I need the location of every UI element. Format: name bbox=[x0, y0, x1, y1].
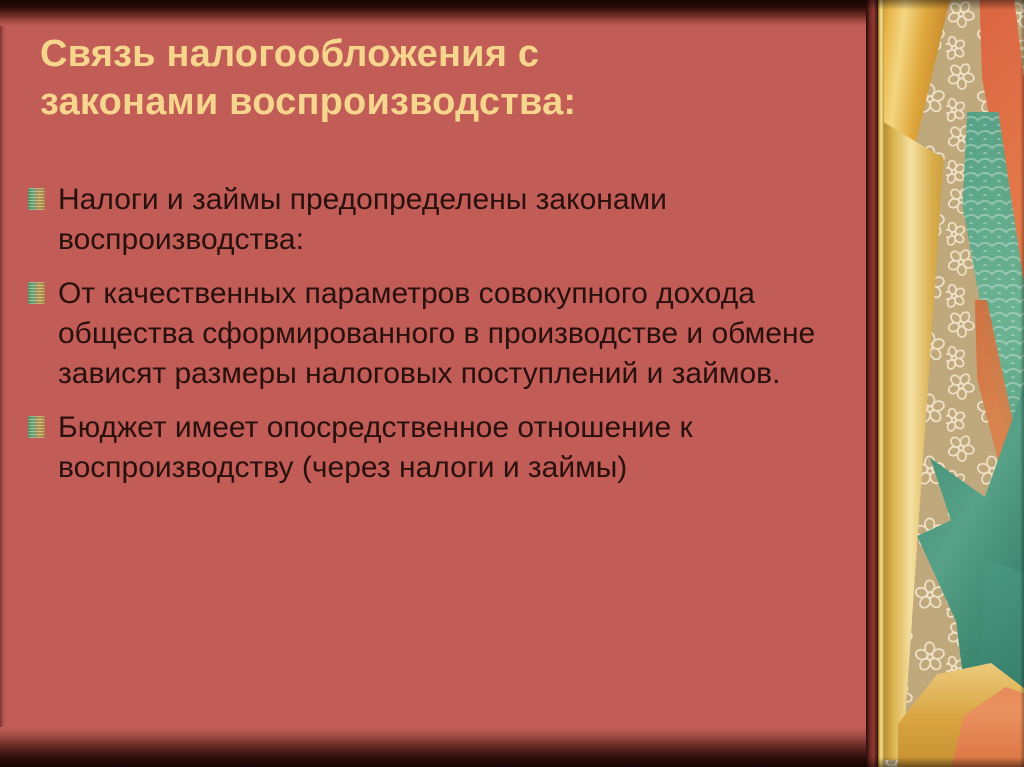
top-edge-shading bbox=[0, 0, 866, 26]
presentation-slide: Связь налогообложения с законами воспрои… bbox=[0, 0, 1024, 767]
ornament-bullet-icon bbox=[28, 416, 45, 438]
slide-content-area: Связь налогообложения с законами воспрои… bbox=[0, 0, 866, 767]
bullet-list: Налоги и займы предопределены законами в… bbox=[28, 180, 818, 502]
deco-gold-rule bbox=[878, 0, 884, 767]
ornament-bullet-icon bbox=[28, 282, 45, 304]
slide-title-line-2: законами воспроизводства: bbox=[40, 78, 840, 126]
slide-title: Связь налогообложения с законами воспрои… bbox=[40, 30, 840, 126]
slide-title-line-1: Связь налогообложения с bbox=[40, 30, 840, 78]
left-edge-shading bbox=[0, 0, 7, 767]
bullet-item-text: Налоги и займы предопределены законами в… bbox=[58, 180, 818, 260]
deco-bottom-shading bbox=[866, 757, 1024, 767]
deco-top-shading bbox=[866, 0, 1024, 10]
deco-right-shading bbox=[1020, 0, 1024, 767]
deco-maroon-bevel bbox=[866, 0, 878, 767]
bullet-item-text: От качественных параметров совокупного д… bbox=[58, 274, 818, 394]
bullet-item: Бюджет имеет опосредственное отношение к… bbox=[28, 408, 818, 488]
bottom-edge-shading bbox=[0, 727, 866, 767]
ornament-bullet-icon bbox=[28, 188, 45, 210]
deco-beige-panel bbox=[884, 0, 1024, 767]
right-decorative-border bbox=[866, 0, 1024, 767]
bullet-item-text: Бюджет имеет опосредственное отношение к… bbox=[58, 408, 818, 488]
bullet-item: От качественных параметров совокупного д… bbox=[28, 274, 818, 394]
bullet-item: Налоги и займы предопределены законами в… bbox=[28, 180, 818, 260]
